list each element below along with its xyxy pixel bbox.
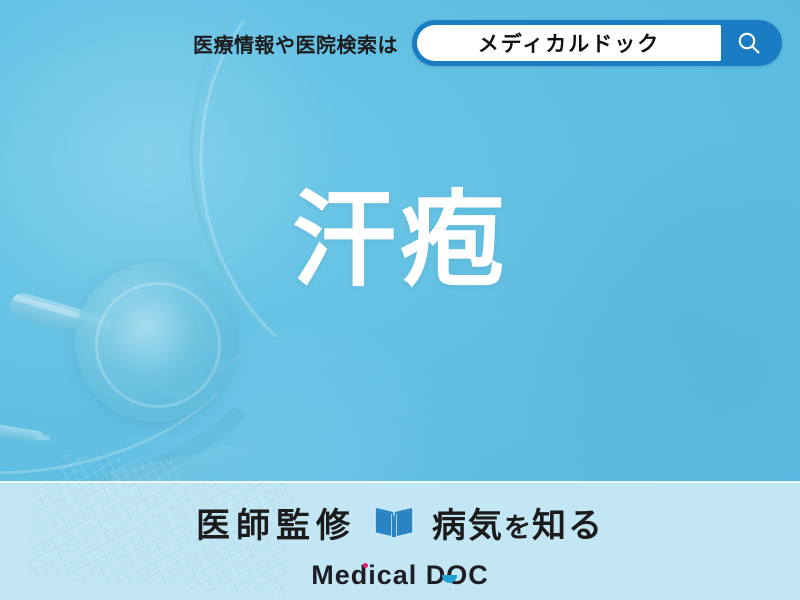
supervised-by-doctor-label: 医師監修	[196, 498, 356, 547]
page-root: 医療情報や医院検索は メディカルドック 汗疱 医師監修	[0, 0, 800, 600]
know-disease-label: 病気を知る	[432, 498, 604, 547]
banner-content-row: 医師監修 病気を知る	[0, 483, 800, 555]
site-header: 医療情報や医院検索は メディカルドック	[0, 0, 800, 86]
site-logo[interactable]: Medical DOC	[311, 560, 489, 591]
search-icon	[735, 29, 763, 57]
search-input[interactable]: メディカルドック	[478, 28, 661, 58]
open-book-icon	[372, 504, 416, 540]
logo-row: Medical DOC	[0, 555, 800, 595]
know-disease-particle: を	[504, 513, 532, 543]
search-box[interactable]: メディカルドック	[412, 20, 782, 66]
search-button[interactable]	[721, 25, 777, 61]
page-title: 汗疱	[0, 185, 800, 297]
header-tagline: 医療情報や医院検索は	[193, 29, 398, 58]
know-disease-main: 病気	[432, 507, 504, 545]
logo-i-dot	[363, 563, 368, 568]
search-input-wrapper[interactable]: メディカルドック	[417, 25, 721, 61]
know-disease-verb: 知る	[532, 507, 604, 545]
site-logo-text: Medical DOC	[311, 560, 489, 590]
stethoscope-diaphragm	[108, 295, 202, 389]
bottom-banner: 医師監修 病気を知る Medical DOC	[0, 481, 800, 600]
